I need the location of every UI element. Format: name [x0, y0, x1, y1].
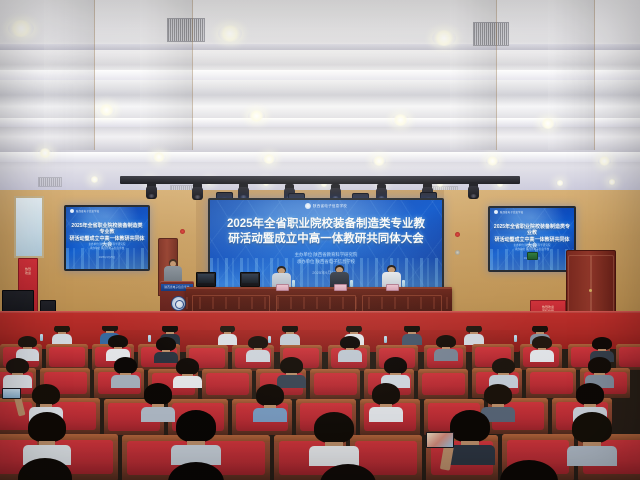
audience-person: [340, 336, 360, 361]
person-hair: [114, 357, 137, 374]
water-bottle: [350, 280, 353, 287]
audience-person: [384, 357, 407, 386]
person-shirt: [402, 334, 422, 345]
person-hair: [314, 412, 354, 443]
right-title-line-1: 2025年全省职业院校装备制造类专业教: [493, 224, 570, 237]
person-hair: [372, 383, 400, 405]
wall-panel-seam: [548, 0, 595, 150]
ceiling-downlight: [8, 20, 34, 37]
water-bottle: [292, 280, 295, 287]
person-hair: [280, 357, 303, 374]
person-hair: [28, 412, 66, 442]
person-hair: [450, 410, 490, 442]
person-shirt: [280, 334, 300, 345]
water-bottle: [402, 280, 405, 287]
conference-hall-photo: 陕西省电子信息学校 2025年全省职业院校装备制造类专业教 研活动暨成立中高一体…: [0, 0, 640, 480]
audience-person-foreground: [500, 460, 558, 480]
school-logo-icon: [494, 210, 498, 214]
person-hair: [168, 462, 224, 480]
audience-person: [314, 412, 354, 460]
ceiling-downlight: [392, 114, 409, 126]
audience-person: [450, 410, 490, 460]
person-shirt: [530, 350, 555, 362]
auditorium-seat[interactable]: [526, 368, 576, 398]
person-hair: [588, 357, 611, 374]
audience-person: [28, 412, 66, 460]
audience-person: [54, 326, 70, 344]
audience-person: [572, 412, 612, 460]
audience-person: [492, 358, 515, 386]
smartphone[interactable]: [2, 388, 21, 399]
presenter-monitor: [196, 272, 216, 287]
wall-panel-seam: [140, 0, 193, 150]
school-logo-icon: [305, 203, 311, 209]
ceiling-downlight: [98, 104, 115, 116]
main-sub-line-1: 主办单位 陕西省教育科学研究院: [229, 252, 424, 259]
person-hair: [6, 358, 29, 374]
person-hair: [144, 383, 172, 405]
main-screen-subtitle: 主办单位 陕西省教育科学研究院 承办单位 陕西省电子信息学校: [229, 252, 424, 265]
person-hair: [320, 464, 376, 480]
person-shirt: [253, 408, 288, 422]
ceiling-downlight: [90, 176, 99, 183]
ceiling: [0, 0, 640, 190]
person-shirt: [173, 376, 202, 388]
audience-person: [144, 383, 172, 418]
ceiling-downlight: [556, 180, 564, 186]
left-banner-line-2: 欢迎: [25, 271, 31, 275]
audience-person-foreground: [320, 464, 376, 480]
audience-person: [248, 336, 268, 361]
person-hair: [500, 460, 558, 480]
person-shirt: [111, 375, 140, 388]
ceiling-beam: [0, 44, 640, 50]
right-screen-logo-text: 陕西省电子信息学校: [500, 210, 523, 214]
person-shirt: [567, 446, 617, 466]
person-hair: [492, 358, 515, 374]
school-logo-icon: [70, 209, 74, 213]
audience-person: [436, 335, 456, 360]
person-hair: [176, 358, 199, 375]
lighting-truss: [120, 176, 520, 184]
person-shirt: [3, 375, 32, 388]
left-led-screen: 陕西省电子信息学校 2025年全省职业院校装备制造类专业教 研活动暨成立中高一体…: [64, 205, 150, 271]
audience-person: [282, 326, 298, 344]
person-shirt: [141, 407, 176, 422]
person-hair: [256, 384, 284, 406]
auditorium-seat[interactable]: [46, 344, 88, 370]
hall-window: [14, 196, 44, 258]
auditorium-seat[interactable]: [616, 344, 640, 370]
person-shirt: [154, 352, 179, 363]
audience-person-foreground: [168, 462, 224, 480]
person-hair: [18, 458, 72, 480]
water-bottle: [40, 334, 43, 341]
water-bottle: [268, 336, 271, 343]
person-shirt: [338, 350, 363, 362]
left-title-line-1: 2025年全省职业院校装备制造类专业教: [69, 223, 144, 236]
school-emblem-icon: [171, 296, 186, 311]
audience-area: [0, 326, 640, 480]
water-bottle: [514, 335, 517, 342]
audience-person: [156, 337, 176, 361]
audience-person: [588, 357, 611, 386]
main-screen-logo: 陕西省电子信息学校: [305, 203, 347, 209]
person-hair: [572, 412, 612, 443]
audience-person: [256, 384, 284, 418]
audience-person: [6, 358, 29, 386]
ceiling-beam: [0, 152, 640, 162]
audience-person: [176, 358, 199, 386]
table-nameplate: [334, 284, 347, 291]
spotlight: [468, 182, 479, 199]
table-nameplate: [386, 284, 399, 291]
water-bottle: [384, 336, 387, 343]
ceiling-downlight: [608, 179, 616, 185]
audience-person-foreground: [18, 458, 72, 480]
fire-alarm-icon: [455, 250, 460, 255]
fire-alarm-icon: [180, 229, 185, 234]
left-sub-line-2: 承办单位 陕西省电子信息学校: [73, 247, 142, 251]
table-nameplate: [276, 284, 289, 291]
left-screen-logo: 陕西省电子信息学校: [70, 209, 99, 213]
spotlight: [146, 182, 157, 199]
person-shirt: [434, 349, 459, 361]
ceiling-downlight: [218, 25, 242, 42]
person-shirt: [218, 334, 237, 345]
audience-person: [404, 326, 420, 344]
left-screen-subtitle: 主办单位 陕西省教育科学研究院 承办单位 陕西省电子信息学校: [73, 243, 142, 251]
right-screen-subtitle: 主办单位 陕西省教育科学研究院 承办单位 陕西省电子信息学校: [497, 244, 568, 252]
person-shirt: [246, 350, 271, 362]
person-shirt: [309, 446, 359, 466]
main-screen-logo-text: 陕西省电子信息学校: [313, 204, 347, 209]
auditorium-seat[interactable]: [310, 369, 360, 399]
left-screen-date: 2025年9月25日: [73, 255, 142, 259]
audience-person: [372, 383, 400, 418]
ceiling-downlight: [248, 110, 265, 122]
person-hair: [32, 384, 60, 405]
person-hair: [576, 383, 604, 405]
water-bottle: [148, 335, 151, 342]
hvac-vent: [38, 177, 62, 187]
person-shirt: [369, 407, 404, 422]
spotlight: [192, 183, 203, 200]
person-hair: [484, 384, 512, 405]
ceiling-beam: [0, 70, 640, 80]
ceiling-downlight: [372, 156, 386, 166]
fire-alarm-icon: [455, 232, 460, 237]
person-hair: [156, 337, 176, 351]
exit-sign: [527, 252, 538, 260]
audience-person: [18, 336, 37, 360]
ceiling-downlight: [598, 156, 611, 166]
audience-person: [532, 336, 552, 361]
left-banner-text: 热烈 欢迎: [25, 267, 31, 275]
main-title-line-1: 2025年全省职业院校装备制造类专业教: [219, 217, 432, 232]
wall-panel-seam: [44, 0, 95, 150]
ceiling-downlight: [262, 154, 276, 164]
audience-person: [220, 326, 235, 344]
smartphone[interactable]: [426, 432, 454, 448]
person-hair: [384, 357, 407, 374]
main-title-line-2: 研活动暨成立中高一体教研共同体大会: [219, 232, 432, 247]
audience-person: [114, 357, 137, 386]
main-screen-title: 2025年全省职业院校装备制造类专业教 研活动暨成立中高一体教研共同体大会: [219, 217, 432, 246]
audience-person: [280, 357, 303, 386]
audience-person: [466, 326, 482, 344]
auditorium-seat[interactable]: [202, 369, 252, 399]
left-screen-logo-text: 陕西省电子信息学校: [76, 209, 99, 213]
auditorium-seat[interactable]: [418, 369, 468, 399]
presenter-monitor: [240, 272, 260, 287]
right-screen-logo: 陕西省电子信息学校: [494, 210, 523, 214]
right-led-screen: 陕西省电子信息学校 2025年全省职业院校装备制造类专业教 研活动暨成立中高一体…: [488, 206, 576, 272]
ceiling-downlight: [486, 156, 499, 166]
ceiling-downlight: [152, 152, 166, 162]
wall-panel-seam: [450, 0, 497, 150]
audience-person: [176, 410, 216, 460]
person-hair: [176, 410, 216, 442]
